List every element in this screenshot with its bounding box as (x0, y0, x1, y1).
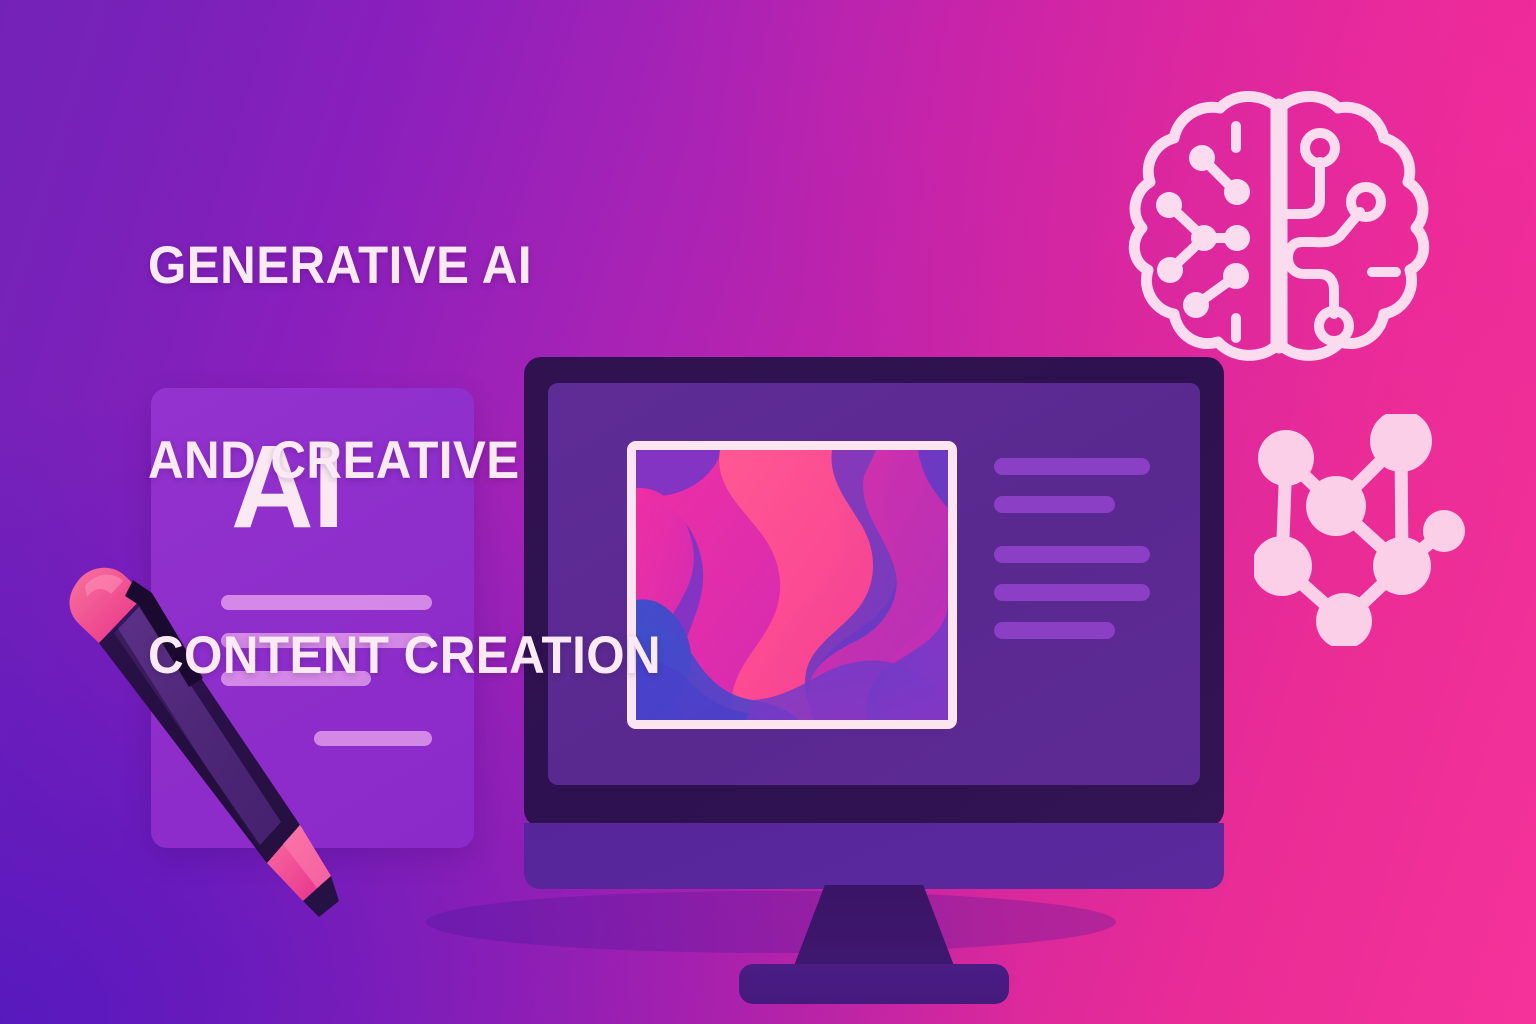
brain-right-circuit (1284, 162, 1360, 314)
network-node-5 (1373, 537, 1431, 595)
monitor-stand-neck (792, 885, 956, 971)
monitor-chin (524, 823, 1224, 889)
monitor-ui-line-3 (994, 546, 1150, 563)
monitor-ui-line-5 (994, 622, 1115, 639)
brain-icon (1124, 80, 1434, 380)
monitor-stand-base (739, 964, 1009, 1004)
page-title: GENERATIVE AI AND CREATIVE CONTENT CREAT… (148, 103, 661, 818)
network-graph-icon (1254, 414, 1469, 646)
generated-artwork (636, 450, 948, 720)
title-line-1: GENERATIVE AI (148, 233, 661, 298)
network-node-7 (1423, 510, 1465, 552)
artwork-frame (627, 441, 957, 729)
network-node-3 (1306, 476, 1366, 536)
title-line-3: CONTENT CREATION (148, 623, 661, 688)
monitor-ui-line-4 (994, 584, 1150, 601)
illustration-canvas: GENERATIVE AI AND CREATIVE CONTENT CREAT… (0, 0, 1536, 1024)
brain-left-nodes (1156, 145, 1250, 318)
monitor-ui-line-1 (994, 458, 1150, 475)
network-node-4 (1254, 536, 1312, 596)
title-line-2: AND CREATIVE (148, 428, 661, 493)
monitor-ui-line-2 (994, 496, 1115, 513)
network-node-1 (1258, 430, 1314, 486)
